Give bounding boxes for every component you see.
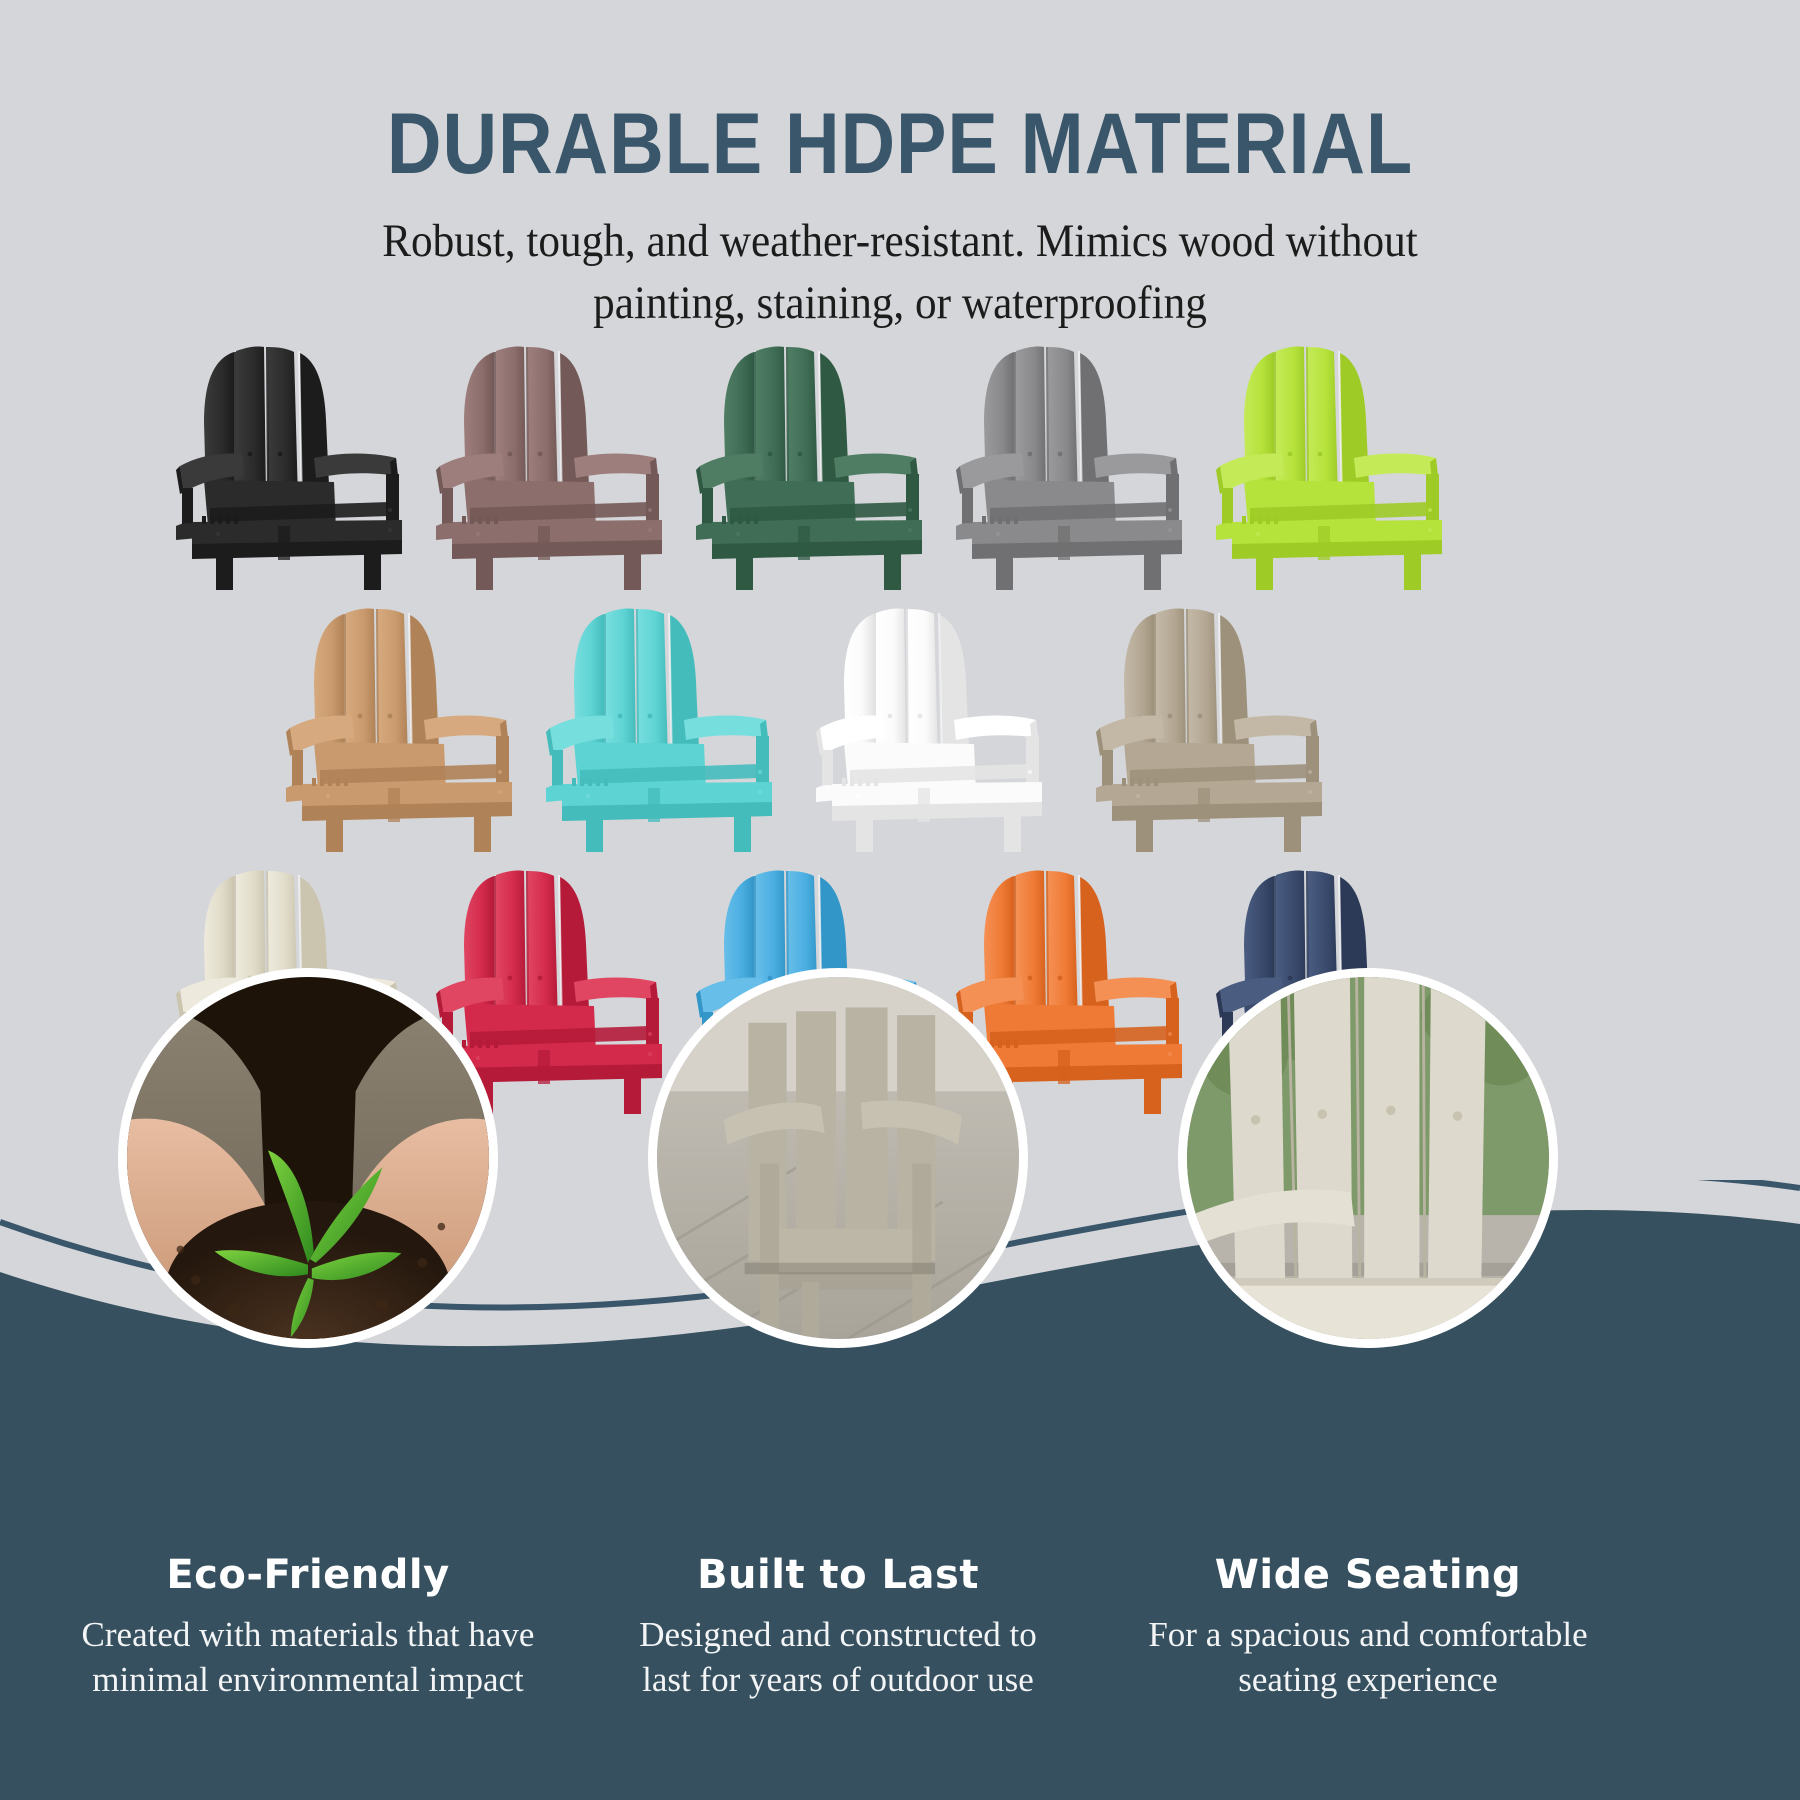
adirondack-chair-svg [418, 330, 668, 592]
chair-row-2 [0, 592, 1800, 854]
chair-swatch-white[interactable] [798, 592, 1048, 854]
subtitle-line-1: Robust, tough, and weather-resistant. Mi… [302, 210, 1498, 272]
chair-swatch-teak-tan[interactable] [268, 592, 518, 854]
feature-title-wide-seating: Wide Seating [1108, 1552, 1628, 1598]
patio-chair-photo-icon [657, 977, 1019, 1339]
page-subtitle: Robust, tough, and weather-resistant. Mi… [250, 210, 1550, 334]
chair-swatch-dark-green[interactable] [678, 330, 928, 592]
adirondack-chair-svg [938, 330, 1188, 592]
adirondack-chair-svg [528, 592, 778, 854]
feature-desc-line-2: minimal environmental impact [48, 1657, 568, 1702]
adirondack-chair-svg [1198, 330, 1448, 592]
feature-desc-line-1: Created with materials that have [48, 1612, 568, 1657]
feature-title-eco-friendly: Eco-Friendly [48, 1552, 568, 1598]
feature-desc-line-2: last for years of outdoor use [578, 1657, 1098, 1702]
chair-backrest-closeup-icon [1187, 977, 1549, 1339]
feature-desc-line-1: For a spacious and comfortable [1108, 1612, 1628, 1657]
adirondack-chair-svg [268, 592, 518, 854]
feature-desc-wide-seating: For a spacious and comfortable seating e… [1108, 1612, 1628, 1702]
adirondack-chair-svg [798, 592, 1048, 854]
chair-white [798, 592, 1048, 854]
feature-image-built-to-last [648, 968, 1028, 1348]
page-title: DURABLE HDPE MATERIAL [108, 95, 1692, 194]
feature-desc-eco-friendly: Created with materials that have minimal… [48, 1612, 568, 1702]
chair-lime-green [1198, 330, 1448, 592]
feature-image-wide-seating [1178, 968, 1558, 1348]
feature-caption-wide-seating: Wide Seating For a spacious and comforta… [1108, 1552, 1628, 1702]
chair-teak-tan [268, 592, 518, 854]
feature-desc-line-1: Designed and constructed to [578, 1612, 1098, 1657]
chair-turquoise [528, 592, 778, 854]
chair-mauve-brown [418, 330, 668, 592]
subtitle-line-2: painting, staining, or waterproofing [302, 272, 1498, 334]
chair-swatch-greige-taupe[interactable] [1078, 592, 1328, 854]
chair-swatch-gray[interactable] [938, 330, 1188, 592]
chair-dark-green [678, 330, 928, 592]
feature-desc-built-to-last: Designed and constructed to last for yea… [578, 1612, 1098, 1702]
feature-caption-built-to-last: Built to Last Designed and constructed t… [578, 1552, 1098, 1702]
chair-row-1 [0, 330, 1800, 592]
hands-seedling-icon [127, 977, 489, 1339]
chair-gray [938, 330, 1188, 592]
chair-swatch-mauve-brown[interactable] [418, 330, 668, 592]
chair-black [158, 330, 408, 592]
adirondack-chair-svg [1078, 592, 1328, 854]
feature-desc-line-2: seating experience [1108, 1657, 1628, 1702]
feature-caption-eco-friendly: Eco-Friendly Created with materials that… [48, 1552, 568, 1702]
adirondack-chair-svg [158, 330, 408, 592]
feature-title-built-to-last: Built to Last [578, 1552, 1098, 1598]
chair-swatch-black[interactable] [158, 330, 408, 592]
chair-swatch-lime-green[interactable] [1198, 330, 1448, 592]
adirondack-chair-svg [678, 330, 928, 592]
chair-greige-taupe [1078, 592, 1328, 854]
chair-swatch-turquoise[interactable] [528, 592, 778, 854]
feature-image-eco-friendly [118, 968, 498, 1348]
